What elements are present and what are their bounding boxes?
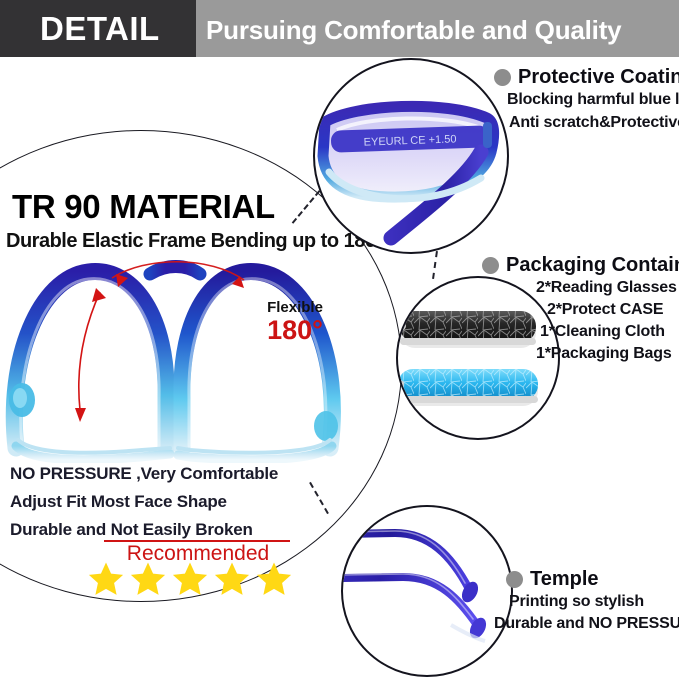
callout-heading-protective-coating: Protective Coating: [494, 66, 679, 89]
bullet-dot-icon: [506, 571, 523, 588]
star-icon: [128, 560, 168, 598]
star-icon: [212, 560, 252, 598]
bullet-dot-icon: [494, 69, 511, 86]
case-black: [398, 311, 536, 348]
star-icon: [254, 560, 294, 598]
bullet-dot-icon: [482, 257, 499, 274]
callout-heading-label: Packaging Contains: [506, 254, 679, 277]
packaging-line-1: 2*Reading Glasses: [536, 277, 677, 299]
temple-arms-photo: [343, 507, 509, 673]
star-icon: [170, 560, 210, 598]
packaging-line-4: 1*Packaging Bags: [536, 343, 672, 365]
feature-line-3: Durable and Not Easily Broken: [10, 518, 253, 542]
temple-line-1: Printing so stylish: [509, 591, 644, 613]
callout-circle-temple: [341, 505, 513, 677]
callout-circle-protective-coating: EYEURL CE +1.50: [313, 58, 509, 254]
bent-frame-illustration: [0, 248, 360, 463]
product-detail-image: DETAIL Pursuing Comfortable and Quality …: [0, 0, 679, 653]
packaging-line-2: 2*Protect CASE: [547, 299, 663, 321]
feature-line-1: NO PRESSURE ,Very Comfortable: [10, 462, 278, 486]
case-blue: [398, 369, 538, 406]
star-icon: [86, 560, 126, 598]
header-tagline-label: Pursuing Comfortable and Quality: [206, 12, 676, 48]
feature-line-2: Adjust Fit Most Face Shape: [10, 490, 227, 514]
star-rating: [84, 562, 296, 596]
glasses-front-photo: EYEURL CE +1.50: [315, 60, 505, 250]
packaging-line-3: 1*Cleaning Cloth: [540, 321, 665, 343]
coating-line-1: Blocking harmful blue light: [507, 89, 679, 111]
callout-heading-temple: Temple: [506, 568, 599, 591]
temple-line-2: Durable and NO PRESSURE: [494, 613, 679, 635]
callout-heading-label: Temple: [530, 568, 599, 591]
callout-heading-label: Protective Coating: [518, 66, 679, 89]
connector-dashed-top-mid: [432, 251, 438, 279]
coating-line-2: Anti scratch&Protective: [509, 112, 679, 134]
header-banner: DETAIL Pursuing Comfortable and Quality: [0, 0, 679, 57]
header-badge-label: DETAIL: [40, 8, 190, 49]
glasses-cases-photo: [398, 278, 556, 436]
flexible-degrees-label: 180°: [250, 314, 340, 346]
callout-heading-packaging: Packaging Contains: [482, 254, 679, 277]
